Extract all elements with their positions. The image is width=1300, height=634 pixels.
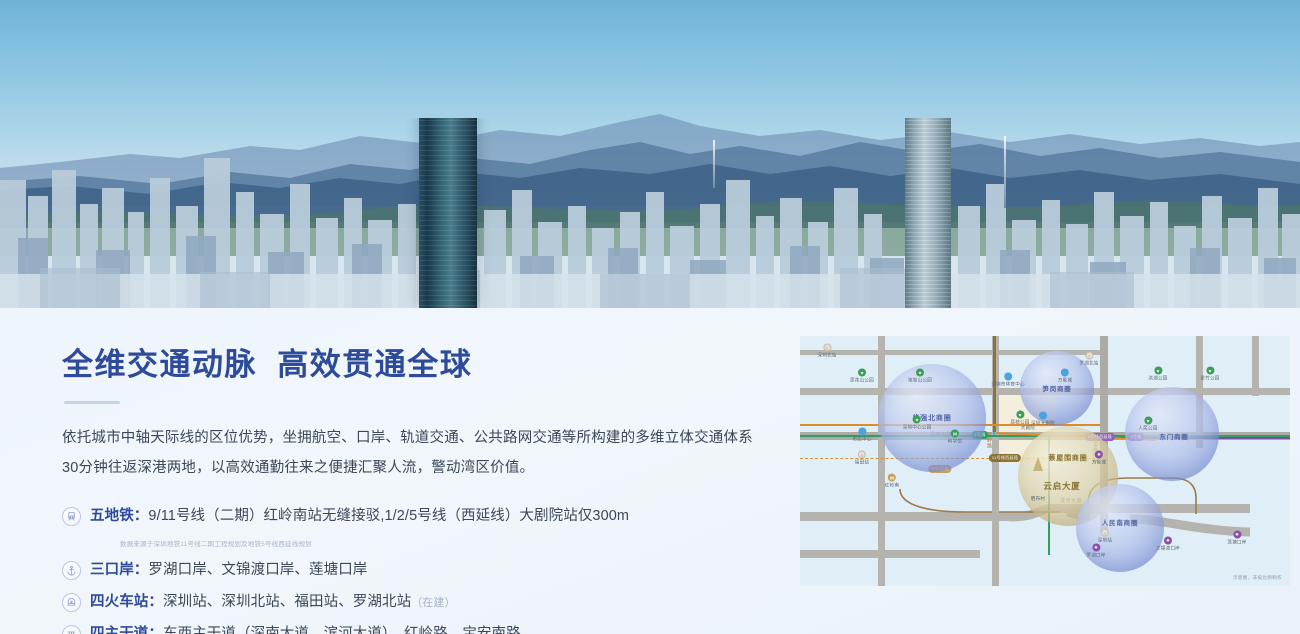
rail-station-icon: ⌂ — [1085, 352, 1093, 360]
metro-icon — [62, 507, 81, 526]
antenna-spire-right — [713, 140, 715, 188]
poi-lizhi-park[interactable]: ⌖ 荔枝公园 — [1010, 411, 1029, 426]
fact-body-port: 三口岸：罗湖口岸、文锦渡口岸、莲塘口岸 — [90, 560, 367, 581]
rail-station-icon: ⌂ — [823, 344, 831, 352]
poi-label: 莲花山公园 — [850, 378, 874, 384]
fact-note-metro: 数据来源于深圳地铁11号线二期工程规划及地铁5号线西延线规划 — [120, 538, 790, 548]
poi-daju-yuan[interactable]: 大剧院 — [1021, 425, 1035, 431]
poi-label: 深圳中心公园 — [903, 425, 932, 431]
fact-value-roads: 东西主干道（深南大道、滨河大道）、红岭路、宝安南路 — [163, 626, 521, 634]
fact-key-roads: 四主干道： — [90, 626, 163, 634]
kk100-tower — [419, 118, 477, 308]
district-label-sungang: 笋岗商圈 — [1042, 383, 1071, 393]
metro-badge-11-west: 11号线西延段 — [989, 454, 1021, 462]
fact-key-metro: 五地铁： — [90, 508, 148, 524]
poi-shenzhen-north-station[interactable]: ⌂ 深圳北站 — [817, 344, 836, 359]
city-skyline — [0, 118, 1300, 308]
poi-luohu-port[interactable]: ◈ 罗湖口岸 — [1086, 544, 1105, 559]
fact-row-roads[interactable]: 四主干道：东西主干道（深南大道、滨河大道）、红岭路、宝安南路 — [62, 624, 790, 634]
poi-mixc-mall[interactable]: ◈ 万象城 — [1092, 451, 1106, 466]
poi-label: 罗湖口岸 — [1086, 553, 1105, 559]
fact-value-metro: 9/11号线（二期）红岭南站无缝接驳,1/2/5号线（西延线）大剧院站仅300m — [148, 508, 629, 524]
poi-label: 福田站 — [855, 460, 869, 466]
park-icon: ⌖ — [1206, 367, 1214, 375]
park-icon: ⌖ — [913, 416, 921, 424]
park-icon: ⌖ — [1144, 417, 1152, 425]
district-bubble-renminnan[interactable] — [1076, 484, 1164, 572]
landmark-label-yunqi-tower: 云启大厦 — [1043, 480, 1080, 492]
poi-luohu-north-station[interactable]: ⌂ 罗湖北站 — [1079, 352, 1098, 367]
rail-station-icon: ⌂ — [858, 451, 866, 459]
fact-key-port: 三口岸： — [90, 562, 148, 578]
poi-sports-center[interactable]: 深圳市体育中心 — [991, 373, 1025, 388]
description-line-2: 30分钟往返深港两地，以高效通勤往来之便捷汇聚人流，警动湾区价值。 — [62, 454, 790, 484]
park-icon: ⌖ — [1016, 411, 1024, 419]
venue-icon — [1004, 373, 1012, 381]
poi-label: 洪湖公园 — [1148, 376, 1167, 382]
poi-label: 大剧院 — [1021, 425, 1035, 431]
fact-line-metro: 五地铁：9/11号线（二期）红岭南站无缝接驳,1/2/5号线（西延线）大剧院站仅… — [90, 506, 629, 527]
poi-science-museum-station[interactable]: M 科学馆 — [948, 430, 962, 445]
map-disclaimer-note: 示意图，非按比例制作 — [1233, 575, 1282, 581]
fact-sub-train: （在建） — [411, 597, 455, 609]
poi-label: 翠竹公园 — [1200, 376, 1219, 382]
fact-row-port[interactable]: 三口岸：罗湖口岸、文锦渡口岸、莲塘口岸 — [62, 560, 790, 581]
poi-shenzhen-station[interactable]: ⌂ 深圳站 — [1098, 529, 1112, 544]
road-v-5 — [1252, 336, 1259, 396]
metro-station-icon: M — [951, 430, 959, 438]
park-icon: ⌖ — [916, 369, 924, 377]
fact-line-roads: 四主干道：东西主干道（深南大道、滨河大道）、红岭路、宝安南路 — [90, 624, 521, 634]
poi-wenjindu-port[interactable]: ◈ 文锦渡口岸 — [1156, 537, 1180, 552]
antenna-spire-left — [1004, 136, 1006, 208]
poi-hongling-south-station[interactable]: M 红岭南 — [885, 474, 899, 489]
poi-label: 深圳北站 — [817, 353, 836, 359]
highway-pillar-icon — [62, 625, 81, 634]
poi-label: 晒布村 — [1031, 496, 1045, 502]
fact-value-train: 深圳站、深圳北站、福田站、罗湖北站 — [163, 594, 411, 610]
poi-label: 罗湖北站 — [1079, 361, 1098, 367]
fact-row-metro[interactable]: 五地铁：9/11号线（二期）红岭南站无缝接驳,1/2/5号线（西延线）大剧院站仅… — [62, 506, 790, 527]
poi-label: 文锦渡口岸 — [1156, 546, 1180, 552]
poi-bijiashan-park[interactable]: ⌖ 笔架山公园 — [908, 369, 932, 384]
fact-value-port: 罗湖口岸、文锦渡口岸、莲塘口岸 — [148, 562, 367, 578]
fact-line-train: 四火车站：深圳站、深圳北站、福田站、罗湖北站（在建） — [90, 592, 456, 613]
poi-label: 红岭南 — [885, 483, 899, 489]
poi-label: 市民中心 — [852, 437, 871, 443]
poi-civic-center[interactable]: 市民中心 — [852, 428, 871, 443]
metro-station-icon: M — [888, 474, 896, 482]
port-icon: ◈ — [1233, 531, 1241, 539]
poi-label: 万象城 — [1092, 460, 1106, 466]
port-icon: ◈ — [1164, 537, 1172, 545]
park-icon: ⌖ — [1154, 367, 1162, 375]
fact-row-train[interactable]: 四火车站：深圳站、深圳北站、福田站、罗湖北站（在建） — [62, 592, 790, 613]
poi-lianhuashan-park[interactable]: ⌖ 莲花山公园 — [850, 369, 874, 384]
poi-shaibu-village[interactable]: 晒布村 — [1031, 496, 1045, 502]
mall-icon: ◈ — [1095, 451, 1103, 459]
park-icon: ⌖ — [858, 369, 866, 377]
ping-an-tower — [905, 118, 951, 308]
location-map-column: 深南中路 滨河大道 红岭路 宝安南路 红岭路 9/11号线 1号线 11号线西延… — [790, 308, 1300, 634]
district-label-renminnan: 人民南商圈 — [1102, 517, 1139, 527]
poi-label: 深圳市体育中心 — [991, 382, 1025, 388]
civic-icon — [858, 428, 866, 436]
section-text-column: 全维交通动脉 高效贯通全球 依托城市中轴天际线的区位优势，坐拥航空、口岸、轨道交… — [0, 308, 790, 634]
anchor-port-icon — [62, 561, 81, 580]
district-label-dongmen: 东门商圈 — [1159, 431, 1188, 441]
poi-liantang-port[interactable]: ◈ 莲塘口岸 — [1227, 531, 1246, 546]
location-map[interactable]: 深南中路 滨河大道 红岭路 宝安南路 红岭路 9/11号线 1号线 11号线西延… — [800, 336, 1290, 586]
yunqi-tower-icon — [1033, 457, 1043, 471]
page-title: 全维交通动脉 高效贯通全球 — [62, 346, 790, 383]
poi-label: 科学馆 — [948, 439, 962, 445]
hero-banner — [0, 0, 1300, 308]
poi-label: 万象城 — [1058, 378, 1072, 384]
poi-mixc-north[interactable]: 万象城 — [1058, 369, 1072, 384]
transport-facts-list: 五地铁：9/11号线（二期）红岭南站无缝接驳,1/2/5号线（西延线）大剧院站仅… — [62, 506, 790, 634]
poi-central-park[interactable]: ⌖ 深圳中心公园 — [903, 416, 932, 431]
transport-section: 全维交通动脉 高效贯通全球 依托城市中轴天际线的区位优势，坐拥航空、口岸、轨道交… — [0, 308, 1300, 634]
description-line-1: 依托城市中轴天际线的区位优势，坐拥航空、口岸、轨道交通、公共路网交通等所构建的多… — [62, 424, 790, 454]
fact-body-roads: 四主干道：东西主干道（深南大道、滨河大道）、红岭路、宝安南路 — [90, 624, 521, 634]
poi-cuizhu-park[interactable]: ⌖ 翠竹公园 — [1200, 367, 1219, 382]
fact-body-metro: 五地铁：9/11号线（二期）红岭南站无缝接驳,1/2/5号线（西延线）大剧院站仅… — [90, 506, 629, 527]
poi-label: 莲塘口岸 — [1227, 540, 1246, 546]
district-label-caiwuwei: 蔡屋围商圈 — [1049, 453, 1088, 463]
fact-body-train: 四火车站：深圳站、深圳北站、福田站、罗湖北站（在建） — [90, 592, 456, 613]
road-v-1 — [878, 336, 885, 586]
section-description: 依托城市中轴天际线的区位优势，坐拥航空、口岸、轨道交通、公共路网交通等所构建的多… — [62, 424, 790, 483]
train-station-icon — [62, 593, 81, 612]
poi-label: 人民公园 — [1138, 426, 1157, 432]
port-icon: ◈ — [1092, 544, 1100, 552]
theater-icon — [1039, 412, 1047, 420]
poi-futian-station[interactable]: ⌂ 福田站 — [855, 451, 869, 466]
fact-key-train: 四火车站： — [90, 594, 163, 610]
rail-station-icon: ⌂ — [1101, 529, 1109, 537]
poi-honghu-park[interactable]: ⌖ 洪湖公园 — [1148, 367, 1167, 382]
poi-renmin-park[interactable]: ⌖ 人民公园 — [1138, 417, 1157, 432]
fact-line-port: 三口岸：罗湖口岸、文锦渡口岸、莲塘口岸 — [90, 560, 367, 581]
mall-icon — [1061, 369, 1069, 377]
poi-label: 笔架山公园 — [908, 378, 932, 384]
title-divider — [64, 401, 120, 404]
